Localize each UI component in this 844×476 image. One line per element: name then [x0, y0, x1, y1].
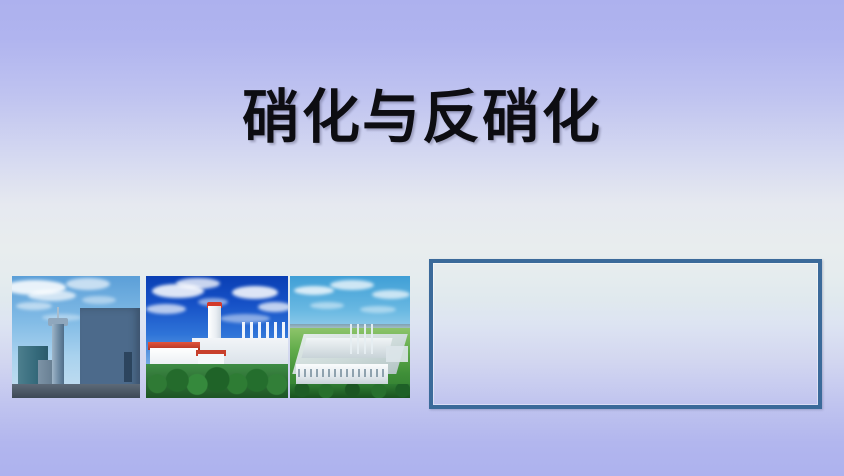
- cloud-icon: [360, 306, 396, 313]
- photo-city-tower: [12, 276, 140, 398]
- cloud-icon: [82, 296, 116, 304]
- cloud-icon: [258, 302, 288, 312]
- tree-band: [146, 364, 288, 398]
- cloud-icon: [310, 302, 344, 309]
- cloud-icon: [16, 302, 52, 310]
- cloud-icon: [28, 290, 76, 301]
- cloud-icon: [372, 290, 410, 299]
- tower-slot: [124, 352, 132, 382]
- page-title: 硝化与反硝化: [0, 82, 844, 152]
- content-placeholder[interactable]: [429, 259, 822, 409]
- cloud-icon: [232, 286, 278, 299]
- photo-plant-red-roofs: [146, 276, 288, 398]
- ground: [12, 384, 140, 398]
- cloud-icon: [146, 304, 186, 314]
- tree-line: [290, 384, 410, 398]
- factory-hall: [302, 338, 393, 358]
- cloud-icon: [176, 278, 220, 289]
- cloud-icon: [330, 280, 374, 290]
- cloud-icon: [66, 278, 110, 290]
- process-towers: [350, 324, 374, 354]
- cloud-icon: [294, 286, 334, 295]
- content-placeholder-text: [433, 263, 818, 283]
- photo-factory-aerial: [290, 276, 410, 398]
- photo-strip: [12, 276, 410, 398]
- side-building: [386, 346, 408, 362]
- window-row: [298, 369, 386, 377]
- slide-canvas: 硝化与反硝化: [0, 0, 844, 476]
